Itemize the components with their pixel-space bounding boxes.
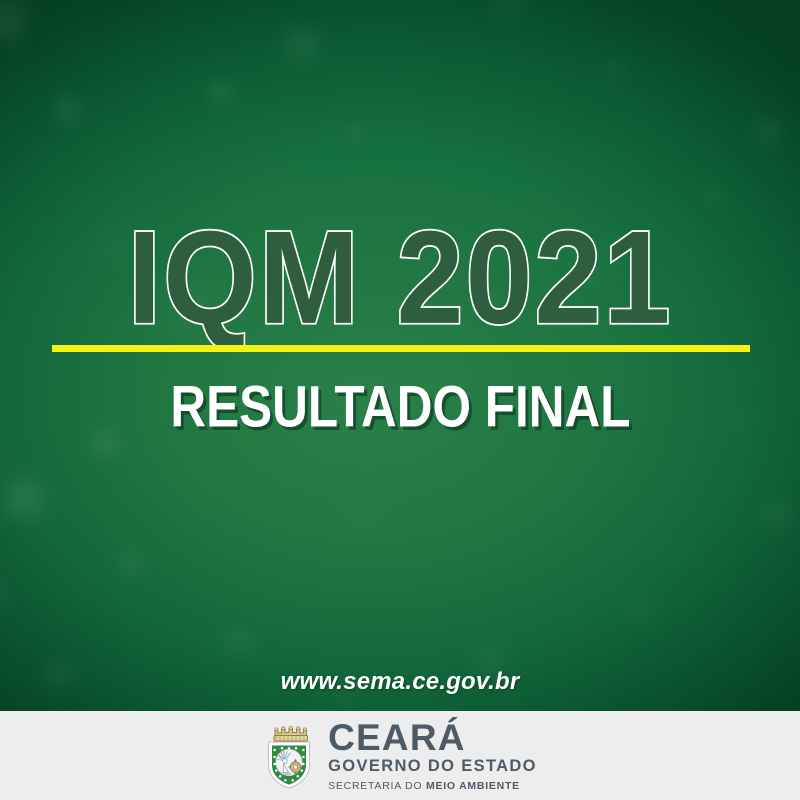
page-subtitle: RESULTADO FINAL <box>170 378 630 436</box>
title-block: IQM 2021 <box>0 212 800 330</box>
poster-canvas: IQM 2021 RESULTADO FINAL www.sema.ce.gov… <box>0 0 800 800</box>
website-url[interactable]: www.sema.ce.gov.br <box>0 668 800 696</box>
subtitle-block: RESULTADO FINAL <box>0 378 800 428</box>
yellow-divider-rule <box>52 345 750 352</box>
logo-secretariat-prefix: SECRETARIA DO <box>328 780 426 792</box>
page-title: IQM 2021 <box>128 212 673 344</box>
logo-secretariat-emphasis: MEIO AMBIENTE <box>426 780 520 792</box>
logo-secretariat-line: SECRETARIA DO MEIO AMBIENTE <box>328 780 520 793</box>
ceara-coat-of-arms-icon <box>263 723 315 789</box>
footer-bar: CEARÁ GOVERNO DO ESTADO SECRETARIA DO ME… <box>0 711 800 800</box>
hero-vignette <box>0 0 800 711</box>
hero-background <box>0 0 800 711</box>
logo-government-line: GOVERNO DO ESTADO <box>328 757 537 776</box>
government-logo-lockup: CEARÁ GOVERNO DO ESTADO SECRETARIA DO ME… <box>263 720 537 793</box>
logo-brand-ceara: CEARÁ <box>328 720 466 756</box>
logo-text-group: CEARÁ GOVERNO DO ESTADO SECRETARIA DO ME… <box>328 720 537 793</box>
